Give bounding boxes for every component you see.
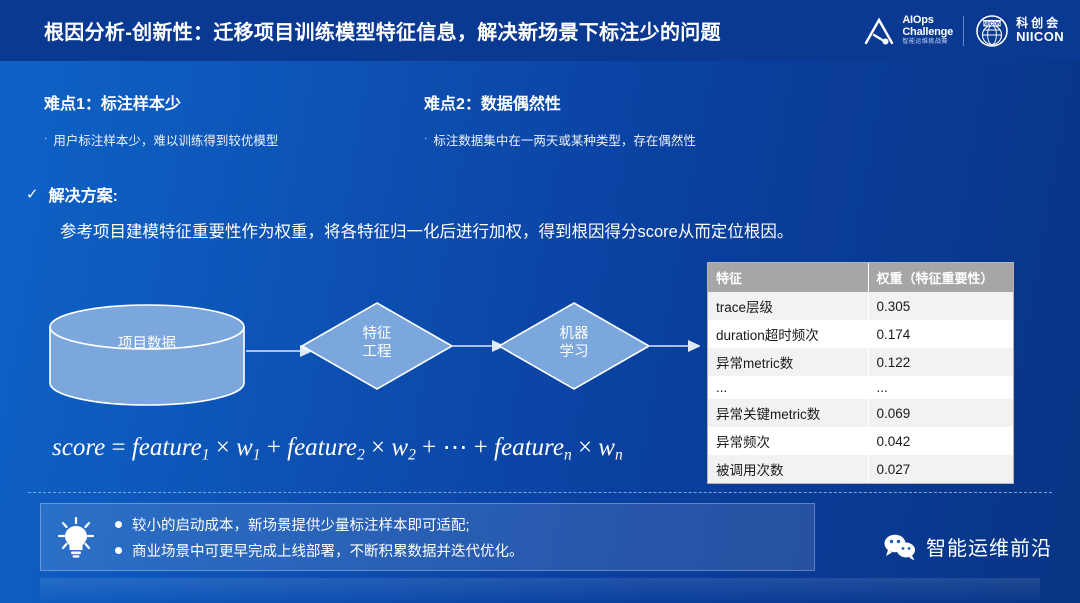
formula-term2: feature — [287, 434, 357, 461]
niicon-globe-icon: NIICON — [974, 14, 1010, 48]
niicon-english-name: NIICON — [1016, 30, 1064, 44]
formula-plus-3: + — [474, 434, 488, 461]
feature-weights-table: 特征 权重（特征重要性） trace层级 0.305 duration超时频次 … — [708, 263, 1013, 483]
formula-lhs: score — [52, 434, 105, 461]
cell-feature: 被调用次数 — [708, 455, 868, 483]
aiops-challenge-logo: AIOps Challenge 智能运维挑战赛 — [862, 15, 953, 47]
benefit-text: 较小的启动成本，新场景提供少量标注样本即可适配; — [132, 514, 470, 535]
formula-w2: w — [391, 434, 408, 461]
cell-weight: 0.122 — [868, 348, 1013, 376]
cell-weight: 0.305 — [868, 292, 1013, 320]
lightbulb-icon — [55, 515, 97, 559]
score-formula: score = feature1 × w1 + feature2 × w2 + … — [52, 432, 623, 464]
formula-times-2: × — [371, 434, 385, 461]
feature-engineering-diamond — [302, 303, 452, 389]
bullet-dot-icon — [115, 521, 122, 528]
table-row: ... ... — [708, 376, 1013, 399]
column-header-weight: 权重（特征重要性） — [868, 263, 1013, 292]
bullet-marker-icon: · — [424, 130, 427, 148]
page-title: 根因分析-创新性：迁移项目训练模型特征信息，解决新场景下标注少的问题 — [44, 16, 721, 45]
cell-weight: 0.174 — [868, 320, 1013, 348]
cell-feature: ... — [708, 376, 868, 399]
formula-term2-sub: 2 — [357, 446, 365, 463]
section-divider — [28, 492, 1052, 493]
formula-plus-2: + — [422, 434, 436, 461]
column-header-feature: 特征 — [708, 263, 868, 292]
cell-feature: 异常关键metric数 — [708, 399, 868, 427]
difficulty-1-bullet: · 用户标注样本少，难以训练得到较优模型 — [44, 130, 278, 149]
solution-heading: ✓ 解决方案: — [26, 182, 118, 206]
formula-w1-sub: 1 — [253, 446, 261, 463]
formula-w1: w — [236, 434, 253, 461]
difficulty-2-text: 标注数据集中在一两天或某种类型，存在偶然性 — [433, 130, 696, 149]
niicon-logo: NIICON 科创会 NIICON — [974, 14, 1064, 48]
slide-root: 根因分析-创新性：迁移项目训练模型特征信息，解决新场景下标注少的问题 AIOps… — [0, 0, 1080, 603]
aiops-logo-subtitle: 智能运维挑战赛 — [902, 39, 953, 45]
slide-header: 根因分析-创新性：迁移项目训练模型特征信息，解决新场景下标注少的问题 AIOps… — [0, 0, 1080, 61]
list-item: 较小的启动成本，新场景提供少量标注样本即可适配; — [115, 514, 524, 535]
table-row: 被调用次数 0.027 — [708, 455, 1013, 483]
cell-weight: 0.027 — [868, 455, 1013, 483]
solution-description: 参考项目建模特征重要性作为权重，将各特征归一化后进行加权，得到根因得分score… — [60, 218, 793, 242]
formula-term1: feature — [132, 434, 202, 461]
table-header-row: 特征 权重（特征重要性） — [708, 263, 1013, 292]
cell-weight: ... — [868, 376, 1013, 399]
wechat-account-name: 智能运维前沿 — [926, 532, 1052, 561]
table-body: trace层级 0.305 duration超时频次 0.174 异常metri… — [708, 292, 1013, 483]
machine-learning-diamond — [499, 303, 649, 389]
difficulty-1-heading: 难点1：标注样本少 — [44, 90, 181, 114]
formula-term1-sub: 1 — [202, 446, 210, 463]
list-item: 商业场景中可更早完成上线部署，不断积累数据并迭代优化。 — [115, 540, 524, 561]
formula-plus-1: + — [267, 434, 281, 461]
cell-feature: duration超时频次 — [708, 320, 868, 348]
formula-ellipsis: ⋯ — [442, 434, 467, 461]
table-header: 特征 权重（特征重要性） — [708, 263, 1013, 292]
difficulty-2-heading: 难点2：数据偶然性 — [424, 90, 561, 114]
benefits-list: 较小的启动成本，新场景提供少量标注样本即可适配; 商业场景中可更早完成上线部署，… — [115, 514, 524, 561]
table-row: duration超时频次 0.174 — [708, 320, 1013, 348]
header-logo-group: AIOps Challenge 智能运维挑战赛 NIICON 科创会 — [862, 0, 1064, 61]
cell-feature: trace层级 — [708, 292, 868, 320]
logo-divider — [963, 16, 964, 46]
cell-weight: 0.042 — [868, 427, 1013, 455]
table-row: 异常关键metric数 0.069 — [708, 399, 1013, 427]
table-row: trace层级 0.305 — [708, 292, 1013, 320]
solution-heading-label: 解决方案: — [49, 182, 118, 206]
formula-equals: = — [111, 434, 125, 461]
formula-wn: w — [598, 434, 615, 461]
bullet-dot-icon — [115, 547, 122, 554]
arrow-ml-to-table — [650, 340, 700, 352]
formula-termn: feature — [494, 434, 564, 461]
aiops-logo-line2: Challenge — [902, 27, 953, 39]
check-icon: ✓ — [26, 185, 39, 203]
cell-feature: 异常频次 — [708, 427, 868, 455]
table-row: 异常metric数 0.122 — [708, 348, 1013, 376]
formula-times-1: × — [216, 434, 230, 461]
table-row: 异常频次 0.042 — [708, 427, 1013, 455]
formula-termn-sub: n — [564, 446, 572, 463]
aiops-triangle-icon — [862, 15, 896, 47]
cell-weight: 0.069 — [868, 399, 1013, 427]
wechat-watermark: 智能运维前沿 — [883, 532, 1052, 561]
wechat-icon — [883, 533, 917, 561]
benefit-text: 商业场景中可更早完成上线部署，不断积累数据并迭代优化。 — [132, 540, 524, 561]
difficulty-1-text: 用户标注样本少，难以训练得到较优模型 — [53, 130, 278, 149]
svg-text:NIICON: NIICON — [983, 21, 1001, 27]
arrow-feature-to-ml — [453, 340, 505, 352]
database-cylinder-shape — [50, 305, 244, 405]
bottom-decor-bar — [40, 578, 1040, 603]
niicon-chinese-name: 科创会 — [1016, 17, 1064, 30]
difficulty-2-bullet: · 标注数据集中在一两天或某种类型，存在偶然性 — [424, 130, 696, 149]
formula-w2-sub: 2 — [408, 446, 416, 463]
formula-times-n: × — [578, 434, 592, 461]
cell-feature: 异常metric数 — [708, 348, 868, 376]
bullet-marker-icon: · — [44, 130, 47, 148]
formula-wn-sub: n — [615, 446, 623, 463]
benefits-callout: 较小的启动成本，新场景提供少量标注样本即可适配; 商业场景中可更早完成上线部署，… — [40, 503, 815, 571]
